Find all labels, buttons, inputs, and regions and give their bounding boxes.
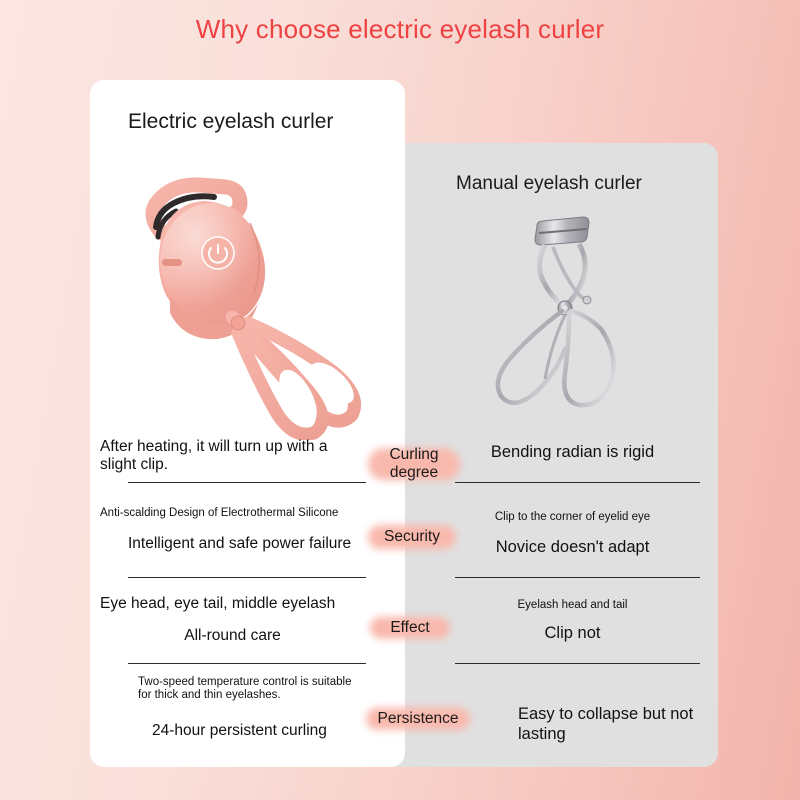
manual-curler-heading: Manual eyelash curler	[456, 173, 642, 195]
row-left-main: After heating, it will turn up with a sl…	[100, 438, 365, 474]
row-left-caption: Anti-scalding Design of Electrothermal S…	[100, 507, 350, 520]
row-label-curling-degree[interactable]: Curling degree	[368, 440, 460, 488]
row-divider-left	[128, 482, 366, 483]
row-right-caption: Clip to the corner of eyelid eye	[440, 511, 705, 524]
row-left-main: Intelligent and safe power failure	[100, 535, 365, 553]
row-right-main: Novice doesn't adapt	[440, 537, 705, 557]
row-left-main: 24-hour persistent curling	[152, 722, 392, 740]
row-label-security[interactable]: Security	[368, 519, 456, 555]
row-label-effect[interactable]: Effect	[370, 611, 450, 645]
row-left-caption: Eye head, eye tail, middle eyelash	[100, 595, 365, 613]
row-left-caption: Two-speed temperature control is suitabl…	[138, 676, 360, 702]
electric-eyelash-curler-image	[100, 165, 400, 440]
row-right-main: Easy to collapse but not lasting	[440, 704, 705, 744]
row-right-main: Clip not	[440, 623, 705, 643]
row-divider-left	[128, 663, 366, 664]
electric-curler-heading: Electric eyelash curler	[128, 110, 333, 134]
row-right-main: Bending radian is rigid	[440, 442, 705, 462]
row-label-persistence[interactable]: Persistence	[366, 702, 470, 736]
row-left-main: All-round care	[100, 627, 365, 645]
row-divider-right	[455, 663, 700, 664]
row-divider-left	[128, 577, 366, 578]
row-divider-right	[455, 482, 700, 483]
manual-eyelash-curler-image	[465, 203, 645, 418]
row-divider-right	[455, 577, 700, 578]
page-title: Why choose electric eyelash curler	[0, 14, 800, 45]
row-right-caption: Eyelash head and tail	[440, 599, 705, 612]
